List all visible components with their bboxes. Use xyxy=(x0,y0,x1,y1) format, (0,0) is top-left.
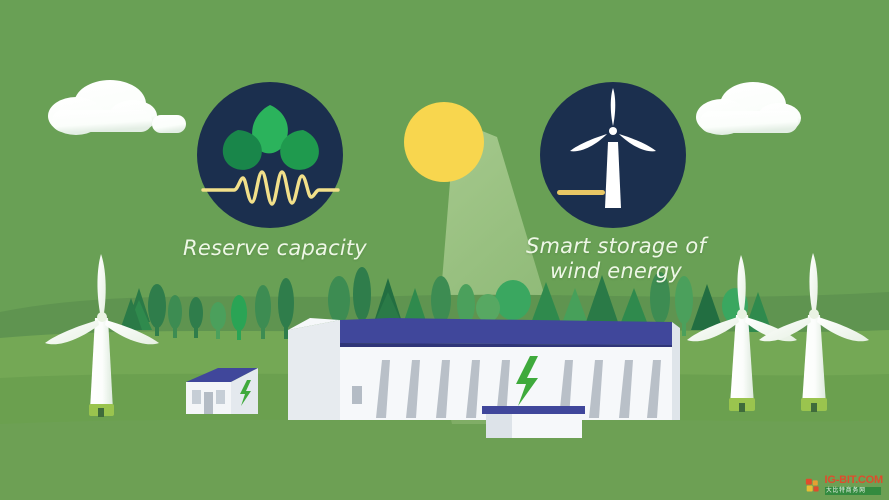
watermark-logo-icon xyxy=(805,477,822,494)
illustration-canvas: Reserve capacity Smart storage of wind e… xyxy=(0,0,889,500)
watermark-subtitle: 大比特商务网 xyxy=(825,487,881,495)
front-platform xyxy=(482,406,585,438)
buildings-layer xyxy=(0,0,889,500)
small-house xyxy=(186,368,258,414)
warehouse-gable xyxy=(288,320,340,420)
platform-top xyxy=(482,406,585,414)
house-window xyxy=(216,390,225,404)
watermark-title: IG-BIT.COM xyxy=(825,475,884,486)
house-window xyxy=(192,390,201,404)
platform-side xyxy=(486,414,512,438)
storage-warehouse xyxy=(288,318,680,420)
site-watermark: IG-BIT.COM 大比特商务网 xyxy=(805,475,884,495)
warehouse-door xyxy=(352,386,362,404)
warehouse-end-wall xyxy=(672,322,680,420)
warehouse-roof xyxy=(340,318,672,345)
house-door xyxy=(204,392,213,414)
